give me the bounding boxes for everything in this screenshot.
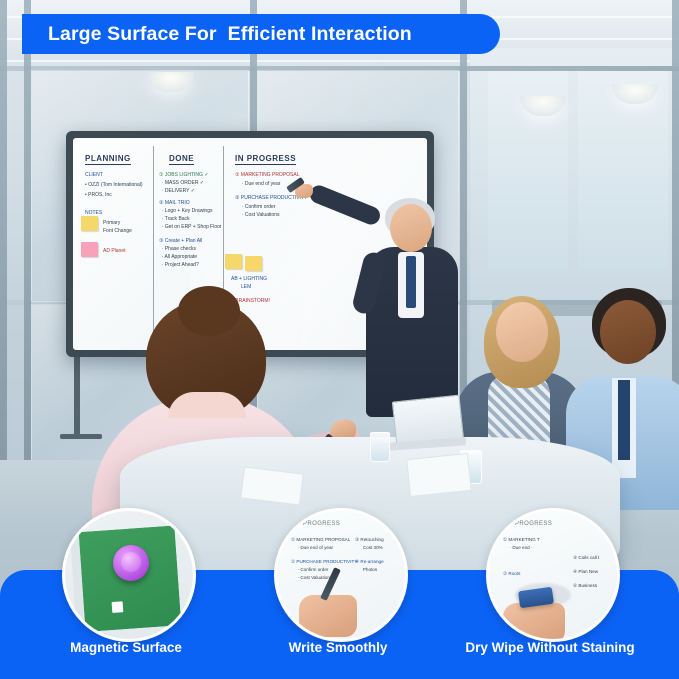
mini-note: · Due end · <box>507 545 533 551</box>
mini-note: ④ Re-arrange <box>355 559 384 565</box>
mini-note: ① MARKETING PROPOSAL <box>291 537 350 543</box>
sticky-note <box>81 242 98 257</box>
feature-label-magnetic-surface: Magnetic Surface <box>16 640 236 655</box>
mini-note: · Cost Valuations <box>295 575 332 581</box>
whiteboard-note: Font Change <box>103 228 132 235</box>
banner-title: Large Surface For Efficient Interaction <box>48 23 412 46</box>
whiteboard-column-header-in-progress: IN PROGRESS <box>235 154 296 165</box>
glass-mullion <box>24 0 31 520</box>
writing-hand <box>299 595 357 637</box>
mini-note: · Due end of year <box>295 545 333 551</box>
whiteboard-note: · Confirm order <box>239 204 275 211</box>
whiteboard-note: · Logo + Key Drawings <box>159 208 213 215</box>
feature-callout-magnetic-surface <box>62 508 196 642</box>
whiteboard-column-divider <box>153 146 154 342</box>
mini-board-heading: PROGRESS <box>515 521 552 527</box>
whiteboard-note: · Due end of year <box>239 181 280 188</box>
sticky-note <box>225 254 242 269</box>
magnet-square-icon <box>112 601 124 613</box>
mini-note: ③ Coils call t <box>573 555 599 561</box>
whiteboard-note: · Cost Valuations <box>239 212 279 219</box>
mini-note: · Confirm order <box>295 567 328 573</box>
whiteboard-note: Primary <box>103 220 120 227</box>
magnet-puck-icon <box>113 545 149 581</box>
product-feature-image: PLANNING CLIENT • OZZI (Tom Internationa… <box>0 0 679 679</box>
mini-note: Photos <box>359 567 377 573</box>
whiteboard-note: CLIENT <box>85 172 103 179</box>
whiteboard-note: AB + LIGHTING <box>231 276 267 283</box>
mini-note: ④ Plan New <box>573 569 598 575</box>
whiteboard-column-header-planning: PLANNING <box>85 154 131 165</box>
wiping-hand <box>503 603 565 642</box>
glass-mullion <box>0 0 7 520</box>
whiteboard-note: · All Appropriate <box>159 254 197 261</box>
whiteboard-note: · Get on ERP + Shop Floor <box>159 224 222 231</box>
whiteboard-note: LEM <box>241 284 251 291</box>
feature-label-write-smoothly: Write Smoothly <box>228 640 448 655</box>
sticky-note <box>245 256 262 271</box>
whiteboard-note: ① JOBS LIGHTING ✓ <box>159 172 209 179</box>
whiteboard-note: · DELIVERY ✓ <box>159 188 195 195</box>
sticky-note <box>81 216 98 231</box>
feature-callout-dry-wipe: PROGRESS ① MARKETING T · Due end · ② Roo… <box>486 508 620 642</box>
water-glass <box>370 432 390 462</box>
mini-note: Cost 30% <box>359 545 383 551</box>
whiteboard-note: · MASS ORDER ✓ <box>159 180 204 187</box>
mini-note: ① MARKETING T <box>503 537 540 543</box>
feature-callout-write-smoothly: PROGRESS ① MARKETING PROPOSAL · Due end … <box>274 508 408 642</box>
whiteboard-stand-foot <box>60 434 102 439</box>
whiteboard-note: · Phase checks <box>159 246 196 253</box>
feature-label-dry-wipe: Dry Wipe Without Staining <box>440 640 660 655</box>
whiteboard-note: ③ Create + Plan All <box>159 238 202 245</box>
whiteboard-note: • PROS, Inc <box>85 192 112 199</box>
whiteboard-note: • OZZI (Tom International) <box>85 182 143 189</box>
whiteboard-note: ② MAIL TRIO <box>159 200 190 207</box>
title-banner: Large Surface For Efficient Interaction <box>22 14 500 54</box>
whiteboard-note: · Track Back <box>159 216 190 223</box>
mini-note: ② Roots <box>503 571 520 577</box>
whiteboard-note: · Project Ahead? <box>159 262 199 269</box>
mini-note: ② PURCHASE PRODUCTIVITY <box>291 559 357 565</box>
whiteboard-stand-leg <box>74 352 80 438</box>
mini-board-heading: PROGRESS <box>303 521 340 527</box>
paper-sheet <box>406 453 472 497</box>
whiteboard-column-header-done: DONE <box>169 154 194 165</box>
mini-note: ③ Retouching <box>355 537 384 543</box>
whiteboard-note: AD Planet <box>103 248 126 255</box>
whiteboard-note: ① MARKETING PROPOSAL <box>235 172 300 179</box>
mini-note: ⑤ Business <box>573 583 597 589</box>
